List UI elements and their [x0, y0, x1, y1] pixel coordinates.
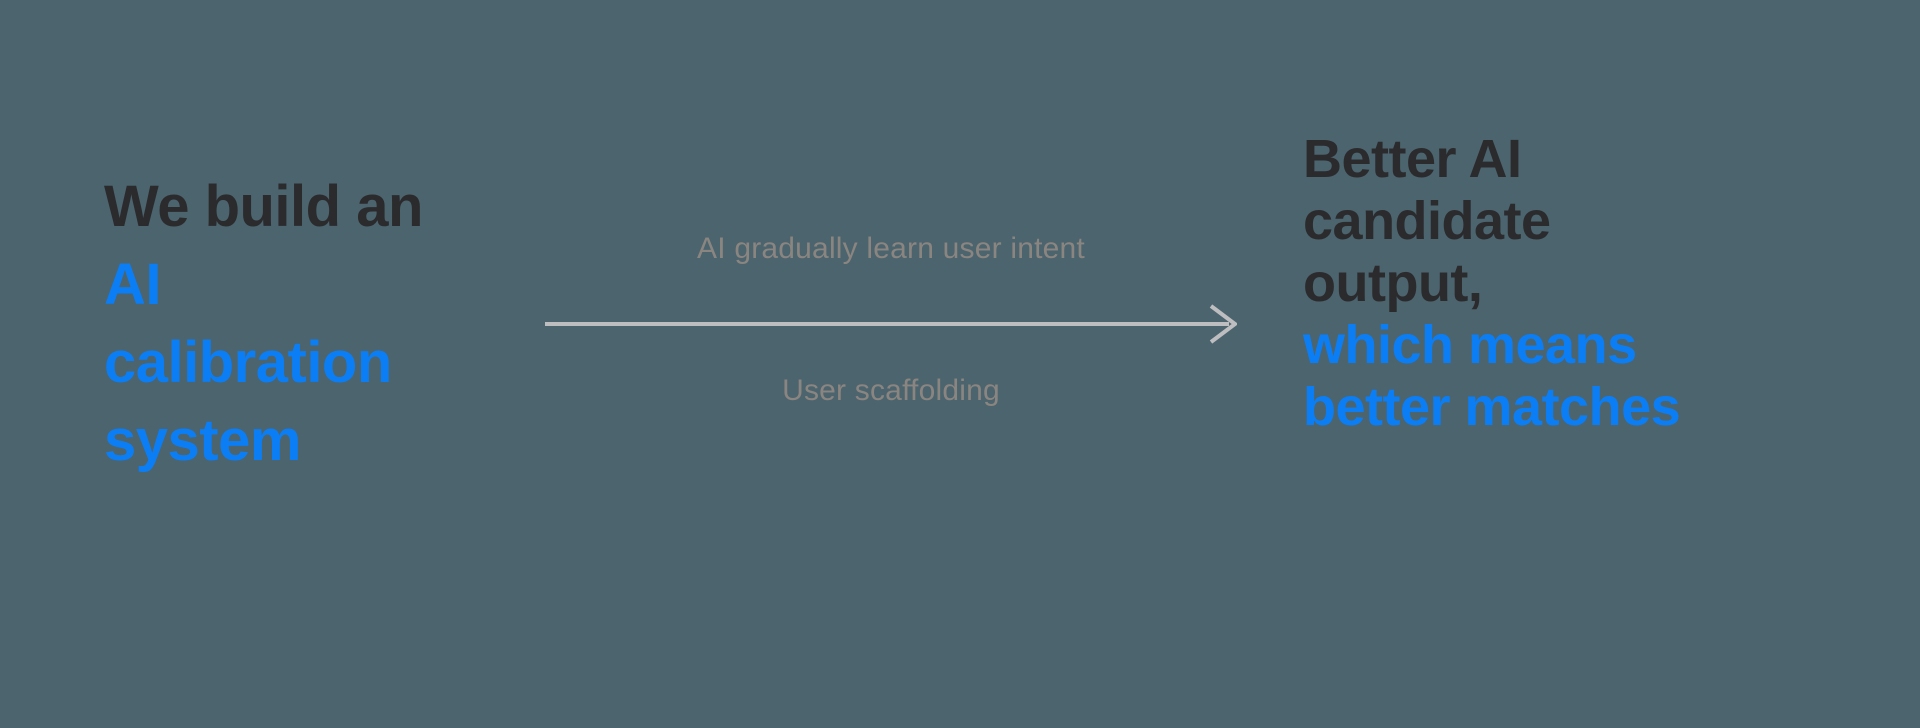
left-statement-line-3: calibration	[104, 324, 534, 402]
left-statement-line-2: AI	[104, 246, 534, 324]
right-outcome-line-1: Better AI	[1303, 128, 1863, 190]
right-outcome-line-5: better matches	[1303, 376, 1863, 438]
right-outcome-line-3: output,	[1303, 252, 1863, 314]
right-outcome-line-2: candidate	[1303, 190, 1863, 252]
left-statement-block: We build an AI calibration system	[104, 168, 534, 480]
right-outcome-line-4: which means	[1303, 314, 1863, 376]
arrow-label-below: User scaffolding	[545, 372, 1237, 410]
left-statement-line-4: system	[104, 402, 534, 480]
arrow-right-icon	[545, 302, 1237, 346]
right-outcome-block: Better AI candidate output, which means …	[1303, 128, 1863, 438]
arrow-label-above: AI gradually learn user intent	[545, 230, 1237, 268]
arrow-group: AI gradually learn user intent User scaf…	[545, 230, 1237, 440]
left-statement-line-1: We build an	[104, 168, 534, 246]
slide-canvas: We build an AI calibration system AI gra…	[0, 0, 1920, 728]
